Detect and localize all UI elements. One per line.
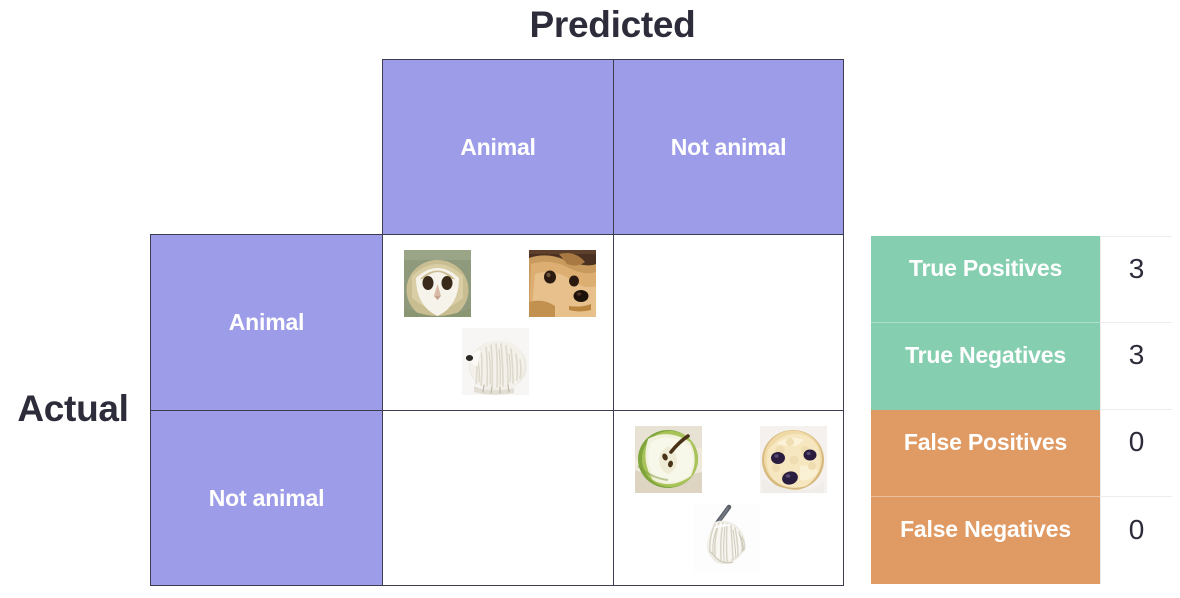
blueberry-muffin-icon [760,426,827,493]
column-header-animal: Animal [382,59,614,235]
green-apple-half-icon [635,426,702,493]
row-header-not-animal-label: Not animal [209,485,325,512]
legend-row-true-negatives: True Negatives 3 [871,323,1172,410]
cell-false-positives [382,410,614,586]
column-header-not-animal-label: Not animal [671,134,787,161]
chihuahua-icon [529,250,596,317]
column-header-not-animal: Not animal [613,59,844,235]
row-header-not-animal: Not animal [150,410,383,586]
cell-false-negatives [613,234,844,411]
legend-row-false-positives: False Positives 0 [871,410,1172,497]
legend-row-false-negatives: False Negatives 0 [871,497,1172,584]
page-title-predicted: Predicted [382,0,843,50]
legend-value-true-negatives: 3 [1100,323,1172,410]
barn-owl-icon [404,250,471,317]
legend-value-false-positives: 0 [1100,410,1172,497]
legend-label-true-positives: True Positives [871,236,1100,323]
true-positive-images [383,235,613,410]
corded-white-dog-icon [462,328,529,395]
string-mop-icon [693,504,760,571]
page-title-actual: Actual [0,386,146,432]
legend-value-false-negatives: 0 [1100,497,1172,584]
column-header-animal-label: Animal [460,134,535,161]
cell-true-negatives [613,410,844,586]
row-header-animal: Animal [150,234,383,411]
confusion-matrix: Animal Not animal Animal Not animal [150,59,843,585]
legend-row-true-positives: True Positives 3 [871,236,1172,323]
legend-table: True Positives 3 True Negatives 3 False … [871,236,1172,584]
legend-label-false-negatives: False Negatives [871,497,1100,584]
row-header-animal-label: Animal [229,309,304,336]
legend-value-true-positives: 3 [1100,236,1172,323]
true-negative-images [614,411,843,585]
legend-label-true-negatives: True Negatives [871,323,1100,410]
legend-label-false-positives: False Positives [871,410,1100,497]
cell-true-positives [382,234,614,411]
